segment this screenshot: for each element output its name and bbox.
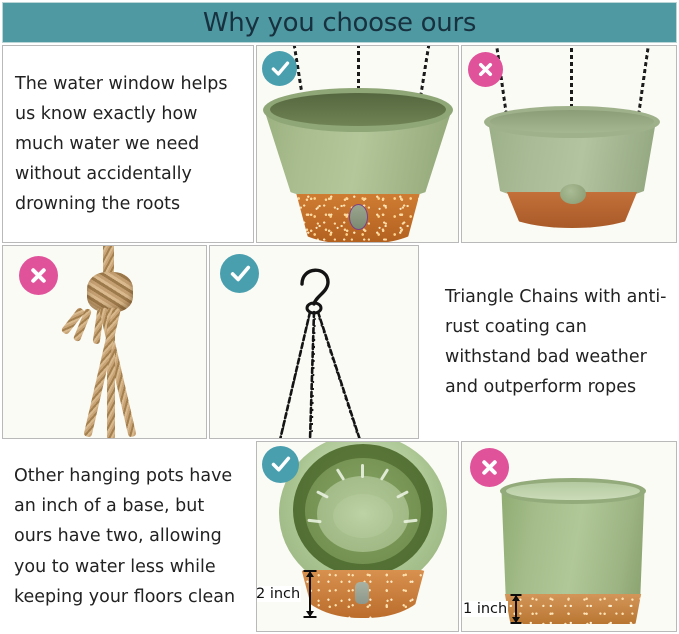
row1-text-cell: The water window helps us know exactly h… <box>2 45 254 243</box>
row1-text: The water window helps us know exactly h… <box>15 69 243 219</box>
pot-rim-inner <box>270 93 446 126</box>
row2-text: Triangle Chains with anti-rust coating c… <box>445 282 667 402</box>
cross-icon <box>479 457 500 478</box>
measure-bracket <box>303 570 316 618</box>
row1-competitor-photo-cell <box>461 45 677 243</box>
infographic-page: Why you choose ours The water window hel… <box>0 0 679 634</box>
measurement-1inch: 1 inch <box>462 594 521 624</box>
measurement-1inch-label: 1 inch <box>462 601 508 617</box>
row3-competitor-photo-cell: 1 inch <box>461 441 677 632</box>
check-icon <box>270 59 290 79</box>
check-badge <box>220 254 259 293</box>
row2-chain-photo-cell <box>209 245 419 439</box>
header-banner: Why you choose ours <box>2 2 677 43</box>
cross-badge <box>470 448 509 487</box>
rope-knot <box>87 272 133 312</box>
water-window-indicator <box>349 204 368 230</box>
water-window-indicator <box>355 582 369 604</box>
chain-right <box>419 45 431 100</box>
check-badge <box>262 446 299 483</box>
row2-text-cell: Triangle Chains with anti-rust coating c… <box>421 245 677 439</box>
row3-text-cell: Other hanging pots have an inch of a bas… <box>2 441 254 632</box>
chain-right <box>638 48 649 112</box>
row2-rope-photo-cell <box>2 245 207 439</box>
pot-body <box>500 490 646 600</box>
measure-bracket <box>510 594 521 624</box>
row1-ours-photo-cell <box>256 45 459 243</box>
measurement-2inch: 2 inch <box>256 570 316 618</box>
cross-badge <box>468 52 503 87</box>
pot-rim-inner <box>506 482 640 500</box>
pot-rim-inner <box>490 110 654 133</box>
measurement-2inch-label: 2 inch <box>256 586 301 602</box>
check-badge <box>262 51 297 86</box>
cross-icon <box>28 265 49 286</box>
pot-cork-base <box>502 594 644 624</box>
check-icon <box>229 263 251 285</box>
pot-interior-center <box>333 494 393 538</box>
cross-icon <box>476 60 495 79</box>
check-icon <box>270 454 291 475</box>
drain-slot <box>361 464 364 478</box>
row3-ours-photo-cell: 2 inch <box>256 441 459 632</box>
page-title: Why you choose ours <box>203 8 476 38</box>
row3-text: Other hanging pots have an inch of a bas… <box>14 461 244 611</box>
drain-knob <box>560 184 586 204</box>
cross-badge <box>19 256 58 295</box>
